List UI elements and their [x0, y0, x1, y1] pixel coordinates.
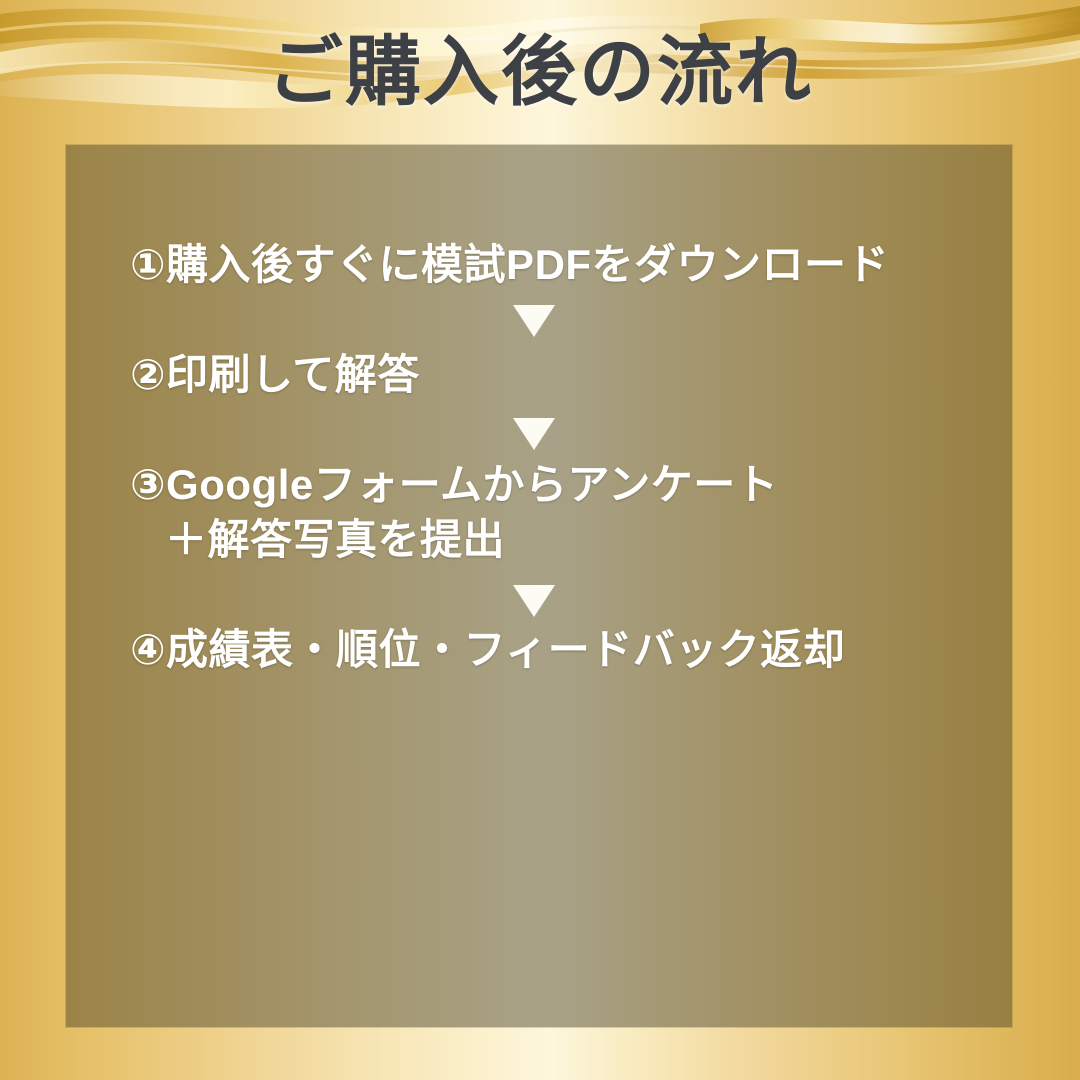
step-item-1: ①購入後すぐに模試PDFをダウンロード	[130, 241, 990, 289]
step-item-2: ②印刷して解答	[130, 351, 990, 399]
arrow-down-icon-1	[513, 305, 555, 337]
poster-canvas: ご購入後の流れ ①購入後すぐに模試PDFをダウンロード ②印刷して解答 ③Goo…	[0, 0, 1080, 1080]
arrow-down-icon-3	[513, 585, 555, 617]
step-item-3: ③Googleフォームからアンケート	[130, 461, 990, 509]
arrow-down-icon-2	[513, 418, 555, 450]
page-title: ご購入後の流れ	[0, 30, 1080, 116]
step-item-3-continued: ＋解答写真を提出	[165, 516, 1025, 564]
step-item-4: ④成績表・順位・フィードバック返却	[130, 626, 990, 674]
content-panel: ①購入後すぐに模試PDFをダウンロード ②印刷して解答 ③Googleフォームか…	[66, 145, 1012, 1027]
